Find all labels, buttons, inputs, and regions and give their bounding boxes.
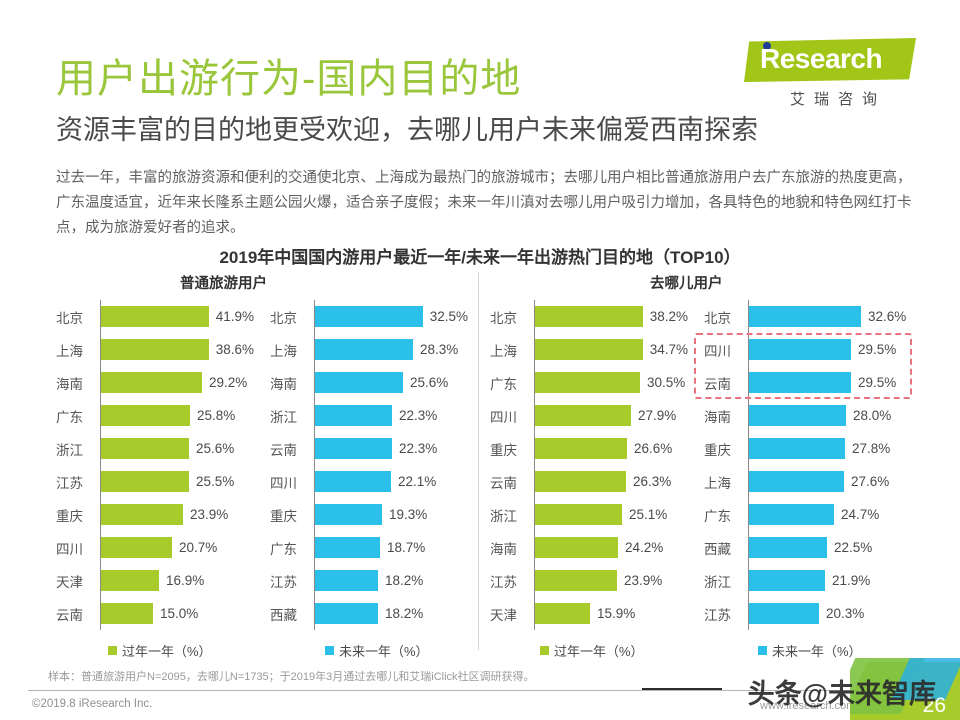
logo-banner-shape: Research xyxy=(744,38,916,82)
logo-chinese-name: 艾瑞咨询 xyxy=(744,88,924,109)
bar-row: 云南29.5% xyxy=(702,366,912,399)
bar xyxy=(101,372,202,393)
bar xyxy=(315,603,378,624)
bar-value-label: 29.5% xyxy=(858,342,896,357)
bar-category-label: 海南 xyxy=(54,373,100,393)
bar-row: 江苏23.9% xyxy=(488,564,688,597)
bar-value-label: 27.6% xyxy=(851,474,889,489)
bar-row: 海南28.0% xyxy=(702,399,912,432)
bar-row: 云南26.3% xyxy=(488,465,688,498)
bar xyxy=(749,603,819,624)
bar xyxy=(315,537,380,558)
bar-column-qunar-past: 北京38.2%上海34.7%广东30.5%四川27.9%重庆26.6%云南26.… xyxy=(488,300,688,630)
bar-category-label: 浙江 xyxy=(54,439,100,459)
bar-column-qunar-future: 北京32.6%四川29.5%云南29.5%海南28.0%重庆27.8%上海27.… xyxy=(702,300,912,630)
bar-category-label: 天津 xyxy=(54,571,100,591)
bar-category-label: 云南 xyxy=(488,472,534,492)
bar-value-label: 26.3% xyxy=(633,474,671,489)
bar-category-label: 江苏 xyxy=(488,571,534,591)
bar-category-label: 重庆 xyxy=(702,439,748,459)
bar-category-label: 重庆 xyxy=(488,439,534,459)
iresearch-logo: Research 艾瑞咨询 xyxy=(744,38,924,116)
bar-value-label: 23.9% xyxy=(190,507,228,522)
bar-category-label: 上海 xyxy=(488,340,534,360)
bar-row: 江苏18.2% xyxy=(268,564,468,597)
bar-value-label: 38.2% xyxy=(650,309,688,324)
bar xyxy=(315,471,391,492)
bar-category-label: 海南 xyxy=(702,406,748,426)
bar-row: 浙江22.3% xyxy=(268,399,468,432)
bar-category-label: 四川 xyxy=(488,406,534,426)
bar-row: 北京32.6% xyxy=(702,300,912,333)
bar xyxy=(749,504,834,525)
bar-value-label: 32.5% xyxy=(430,309,468,324)
bar-row: 四川29.5% xyxy=(702,333,912,366)
bar-value-label: 22.3% xyxy=(399,408,437,423)
bar-value-label: 26.6% xyxy=(634,441,672,456)
bar xyxy=(315,405,392,426)
bar-row: 重庆26.6% xyxy=(488,432,688,465)
bar-category-label: 浙江 xyxy=(488,505,534,525)
legend-swatch-icon xyxy=(325,646,334,655)
bar xyxy=(535,405,631,426)
logo-wordmark: Research xyxy=(760,43,882,75)
legend-ordinary-past: 过年一年（%） xyxy=(108,641,212,660)
watermark-rule xyxy=(642,688,722,690)
bar xyxy=(535,570,617,591)
panel-label-ordinary-users: 普通旅游用户 xyxy=(180,272,267,293)
bar-value-label: 32.6% xyxy=(868,309,906,324)
bar-row: 海南29.2% xyxy=(54,366,254,399)
bar-category-label: 北京 xyxy=(268,307,314,327)
bar-category-label: 上海 xyxy=(54,340,100,360)
bar xyxy=(101,570,159,591)
bar-value-label: 29.5% xyxy=(858,375,896,390)
bar-value-label: 25.1% xyxy=(629,507,667,522)
bar-row: 西藏22.5% xyxy=(702,531,912,564)
bar-value-label: 41.9% xyxy=(216,309,254,324)
bar-category-label: 上海 xyxy=(702,472,748,492)
summary-paragraph: 过去一年，丰富的旅游资源和便利的交通使北京、上海成为最热门的旅游城市；去哪儿用户… xyxy=(56,166,922,241)
bar-value-label: 18.2% xyxy=(385,606,423,621)
legend-qunar-past: 过年一年（%） xyxy=(540,641,644,660)
bar xyxy=(749,306,861,327)
legend-swatch-icon xyxy=(540,646,549,655)
legend-label: 过年一年（%） xyxy=(554,641,644,660)
bar-value-label: 24.2% xyxy=(625,540,663,555)
bar-row: 云南15.0% xyxy=(54,597,254,630)
bar-row: 重庆23.9% xyxy=(54,498,254,531)
bar-value-label: 19.3% xyxy=(389,507,427,522)
bar-value-label: 24.7% xyxy=(841,507,879,522)
bar-row: 天津15.9% xyxy=(488,597,688,630)
bar xyxy=(535,372,640,393)
bar-category-label: 海南 xyxy=(268,373,314,393)
bar-category-label: 江苏 xyxy=(268,571,314,591)
bar xyxy=(101,306,209,327)
bar-row: 浙江25.1% xyxy=(488,498,688,531)
bar-row: 北京32.5% xyxy=(268,300,468,333)
bar-value-label: 28.3% xyxy=(420,342,458,357)
bar-category-label: 广东 xyxy=(488,373,534,393)
bar-value-label: 25.6% xyxy=(196,441,234,456)
bar xyxy=(101,603,153,624)
bar-value-label: 30.5% xyxy=(647,375,685,390)
bar-row: 广东24.7% xyxy=(702,498,912,531)
legend-ordinary-future: 未来一年（%） xyxy=(325,641,429,660)
legend-label: 未来一年（%） xyxy=(339,641,429,660)
bar xyxy=(101,537,172,558)
bar xyxy=(535,537,618,558)
bar-row: 江苏20.3% xyxy=(702,597,912,630)
bar-category-label: 江苏 xyxy=(702,604,748,624)
bar-value-label: 25.6% xyxy=(410,375,448,390)
bar-row: 西藏18.2% xyxy=(268,597,468,630)
bar-category-label: 海南 xyxy=(488,538,534,558)
bar xyxy=(749,372,851,393)
bar-row: 浙江25.6% xyxy=(54,432,254,465)
slide-root: 用户出游行为-国内目的地 资源丰富的目的地更受欢迎，去哪儿用户未来偏爱西南探索 … xyxy=(0,0,960,720)
bar-value-label: 25.8% xyxy=(197,408,235,423)
bar-category-label: 云南 xyxy=(702,373,748,393)
bar xyxy=(101,339,209,360)
bar-row: 广东18.7% xyxy=(268,531,468,564)
bar-category-label: 重庆 xyxy=(54,505,100,525)
bar-value-label: 27.9% xyxy=(638,408,676,423)
bar xyxy=(315,339,413,360)
bar xyxy=(535,603,590,624)
bar-value-label: 28.0% xyxy=(853,408,891,423)
bar-value-label: 18.2% xyxy=(385,573,423,588)
bar xyxy=(101,405,190,426)
bar xyxy=(749,405,846,426)
bar-value-label: 20.3% xyxy=(826,606,864,621)
bar-row: 四川22.1% xyxy=(268,465,468,498)
bar-category-label: 四川 xyxy=(54,538,100,558)
bar xyxy=(749,537,827,558)
bar-category-label: 云南 xyxy=(268,439,314,459)
bar-category-label: 西藏 xyxy=(702,538,748,558)
bar-column-ordinary-past: 北京41.9%上海38.6%海南29.2%广东25.8%浙江25.6%江苏25.… xyxy=(54,300,254,630)
page-title: 用户出游行为-国内目的地 xyxy=(56,46,521,104)
page-subtitle: 资源丰富的目的地更受欢迎，去哪儿用户未来偏爱西南探索 xyxy=(56,108,758,147)
bar-row: 重庆19.3% xyxy=(268,498,468,531)
panel-label-qunar-users: 去哪儿用户 xyxy=(650,272,723,293)
bar-row: 广东25.8% xyxy=(54,399,254,432)
legend-label: 过年一年（%） xyxy=(122,641,212,660)
bar xyxy=(535,306,643,327)
bar xyxy=(315,306,423,327)
legend-qunar-future: 未来一年（%） xyxy=(758,641,862,660)
bar-category-label: 重庆 xyxy=(268,505,314,525)
bar-value-label: 29.2% xyxy=(209,375,247,390)
bar-value-label: 20.7% xyxy=(179,540,217,555)
bar-category-label: 广东 xyxy=(54,406,100,426)
bar-row: 上海27.6% xyxy=(702,465,912,498)
bar-value-label: 23.9% xyxy=(624,573,662,588)
bar xyxy=(535,438,627,459)
bar-category-label: 浙江 xyxy=(702,571,748,591)
bar-value-label: 18.7% xyxy=(387,540,425,555)
chart-title: 2019年中国国内游用户最近一年/未来一年出游热门目的地（TOP10） xyxy=(0,243,960,268)
bar-row: 北京41.9% xyxy=(54,300,254,333)
bar-category-label: 江苏 xyxy=(54,472,100,492)
bar-category-label: 广东 xyxy=(268,538,314,558)
bar-category-label: 广东 xyxy=(702,505,748,525)
bar-value-label: 22.3% xyxy=(399,441,437,456)
bar xyxy=(535,471,626,492)
bar-row: 上海34.7% xyxy=(488,333,688,366)
bar-row: 北京38.2% xyxy=(488,300,688,333)
bar-row: 海南25.6% xyxy=(268,366,468,399)
bar-category-label: 浙江 xyxy=(268,406,314,426)
bar-category-label: 西藏 xyxy=(268,604,314,624)
bar-category-label: 四川 xyxy=(702,340,748,360)
bar-value-label: 22.1% xyxy=(398,474,436,489)
bar-row: 四川20.7% xyxy=(54,531,254,564)
copyright-text: ©2019.8 iResearch Inc. xyxy=(32,698,152,710)
legend-swatch-icon xyxy=(758,646,767,655)
bar xyxy=(749,570,825,591)
bar-row: 云南22.3% xyxy=(268,432,468,465)
bar xyxy=(749,471,844,492)
bar-category-label: 四川 xyxy=(268,472,314,492)
bar-value-label: 15.0% xyxy=(160,606,198,621)
bar xyxy=(535,339,643,360)
bar xyxy=(315,570,378,591)
bar-category-label: 上海 xyxy=(268,340,314,360)
sample-note: 样本：普通旅游用户N=2095，去哪儿N=1735；于2019年3月通过去哪儿和… xyxy=(48,668,535,684)
bar-category-label: 天津 xyxy=(488,604,534,624)
bar xyxy=(315,504,382,525)
bar xyxy=(315,438,392,459)
bar-value-label: 16.9% xyxy=(166,573,204,588)
bar-value-label: 34.7% xyxy=(650,342,688,357)
legend-label: 未来一年（%） xyxy=(772,641,862,660)
chart-grid: 北京41.9%上海38.6%海南29.2%广东25.8%浙江25.6%江苏25.… xyxy=(0,300,960,630)
bar-category-label: 北京 xyxy=(702,307,748,327)
bar-value-label: 15.9% xyxy=(597,606,635,621)
bar-row: 广东30.5% xyxy=(488,366,688,399)
bar-value-label: 21.9% xyxy=(832,573,870,588)
bar xyxy=(535,504,622,525)
legend-swatch-icon xyxy=(108,646,117,655)
bar-row: 上海28.3% xyxy=(268,333,468,366)
bar xyxy=(101,438,189,459)
bar xyxy=(101,471,189,492)
bar xyxy=(101,504,183,525)
bar-value-label: 25.5% xyxy=(196,474,234,489)
bar-row: 浙江21.9% xyxy=(702,564,912,597)
bar-value-label: 22.5% xyxy=(834,540,872,555)
bar xyxy=(749,339,851,360)
bar-row: 江苏25.5% xyxy=(54,465,254,498)
bar-row: 海南24.2% xyxy=(488,531,688,564)
bar-row: 上海38.6% xyxy=(54,333,254,366)
bar xyxy=(315,372,403,393)
bar-category-label: 云南 xyxy=(54,604,100,624)
bar-row: 四川27.9% xyxy=(488,399,688,432)
bar-column-ordinary-future: 北京32.5%上海28.3%海南25.6%浙江22.3%云南22.3%四川22.… xyxy=(268,300,468,630)
bar xyxy=(749,438,845,459)
bar-row: 天津16.9% xyxy=(54,564,254,597)
bar-value-label: 38.6% xyxy=(216,342,254,357)
bar-row: 重庆27.8% xyxy=(702,432,912,465)
bar-value-label: 27.8% xyxy=(852,441,890,456)
bar-category-label: 北京 xyxy=(54,307,100,327)
bar-category-label: 北京 xyxy=(488,307,534,327)
watermark-text: 头条@未来智库 xyxy=(748,672,936,711)
